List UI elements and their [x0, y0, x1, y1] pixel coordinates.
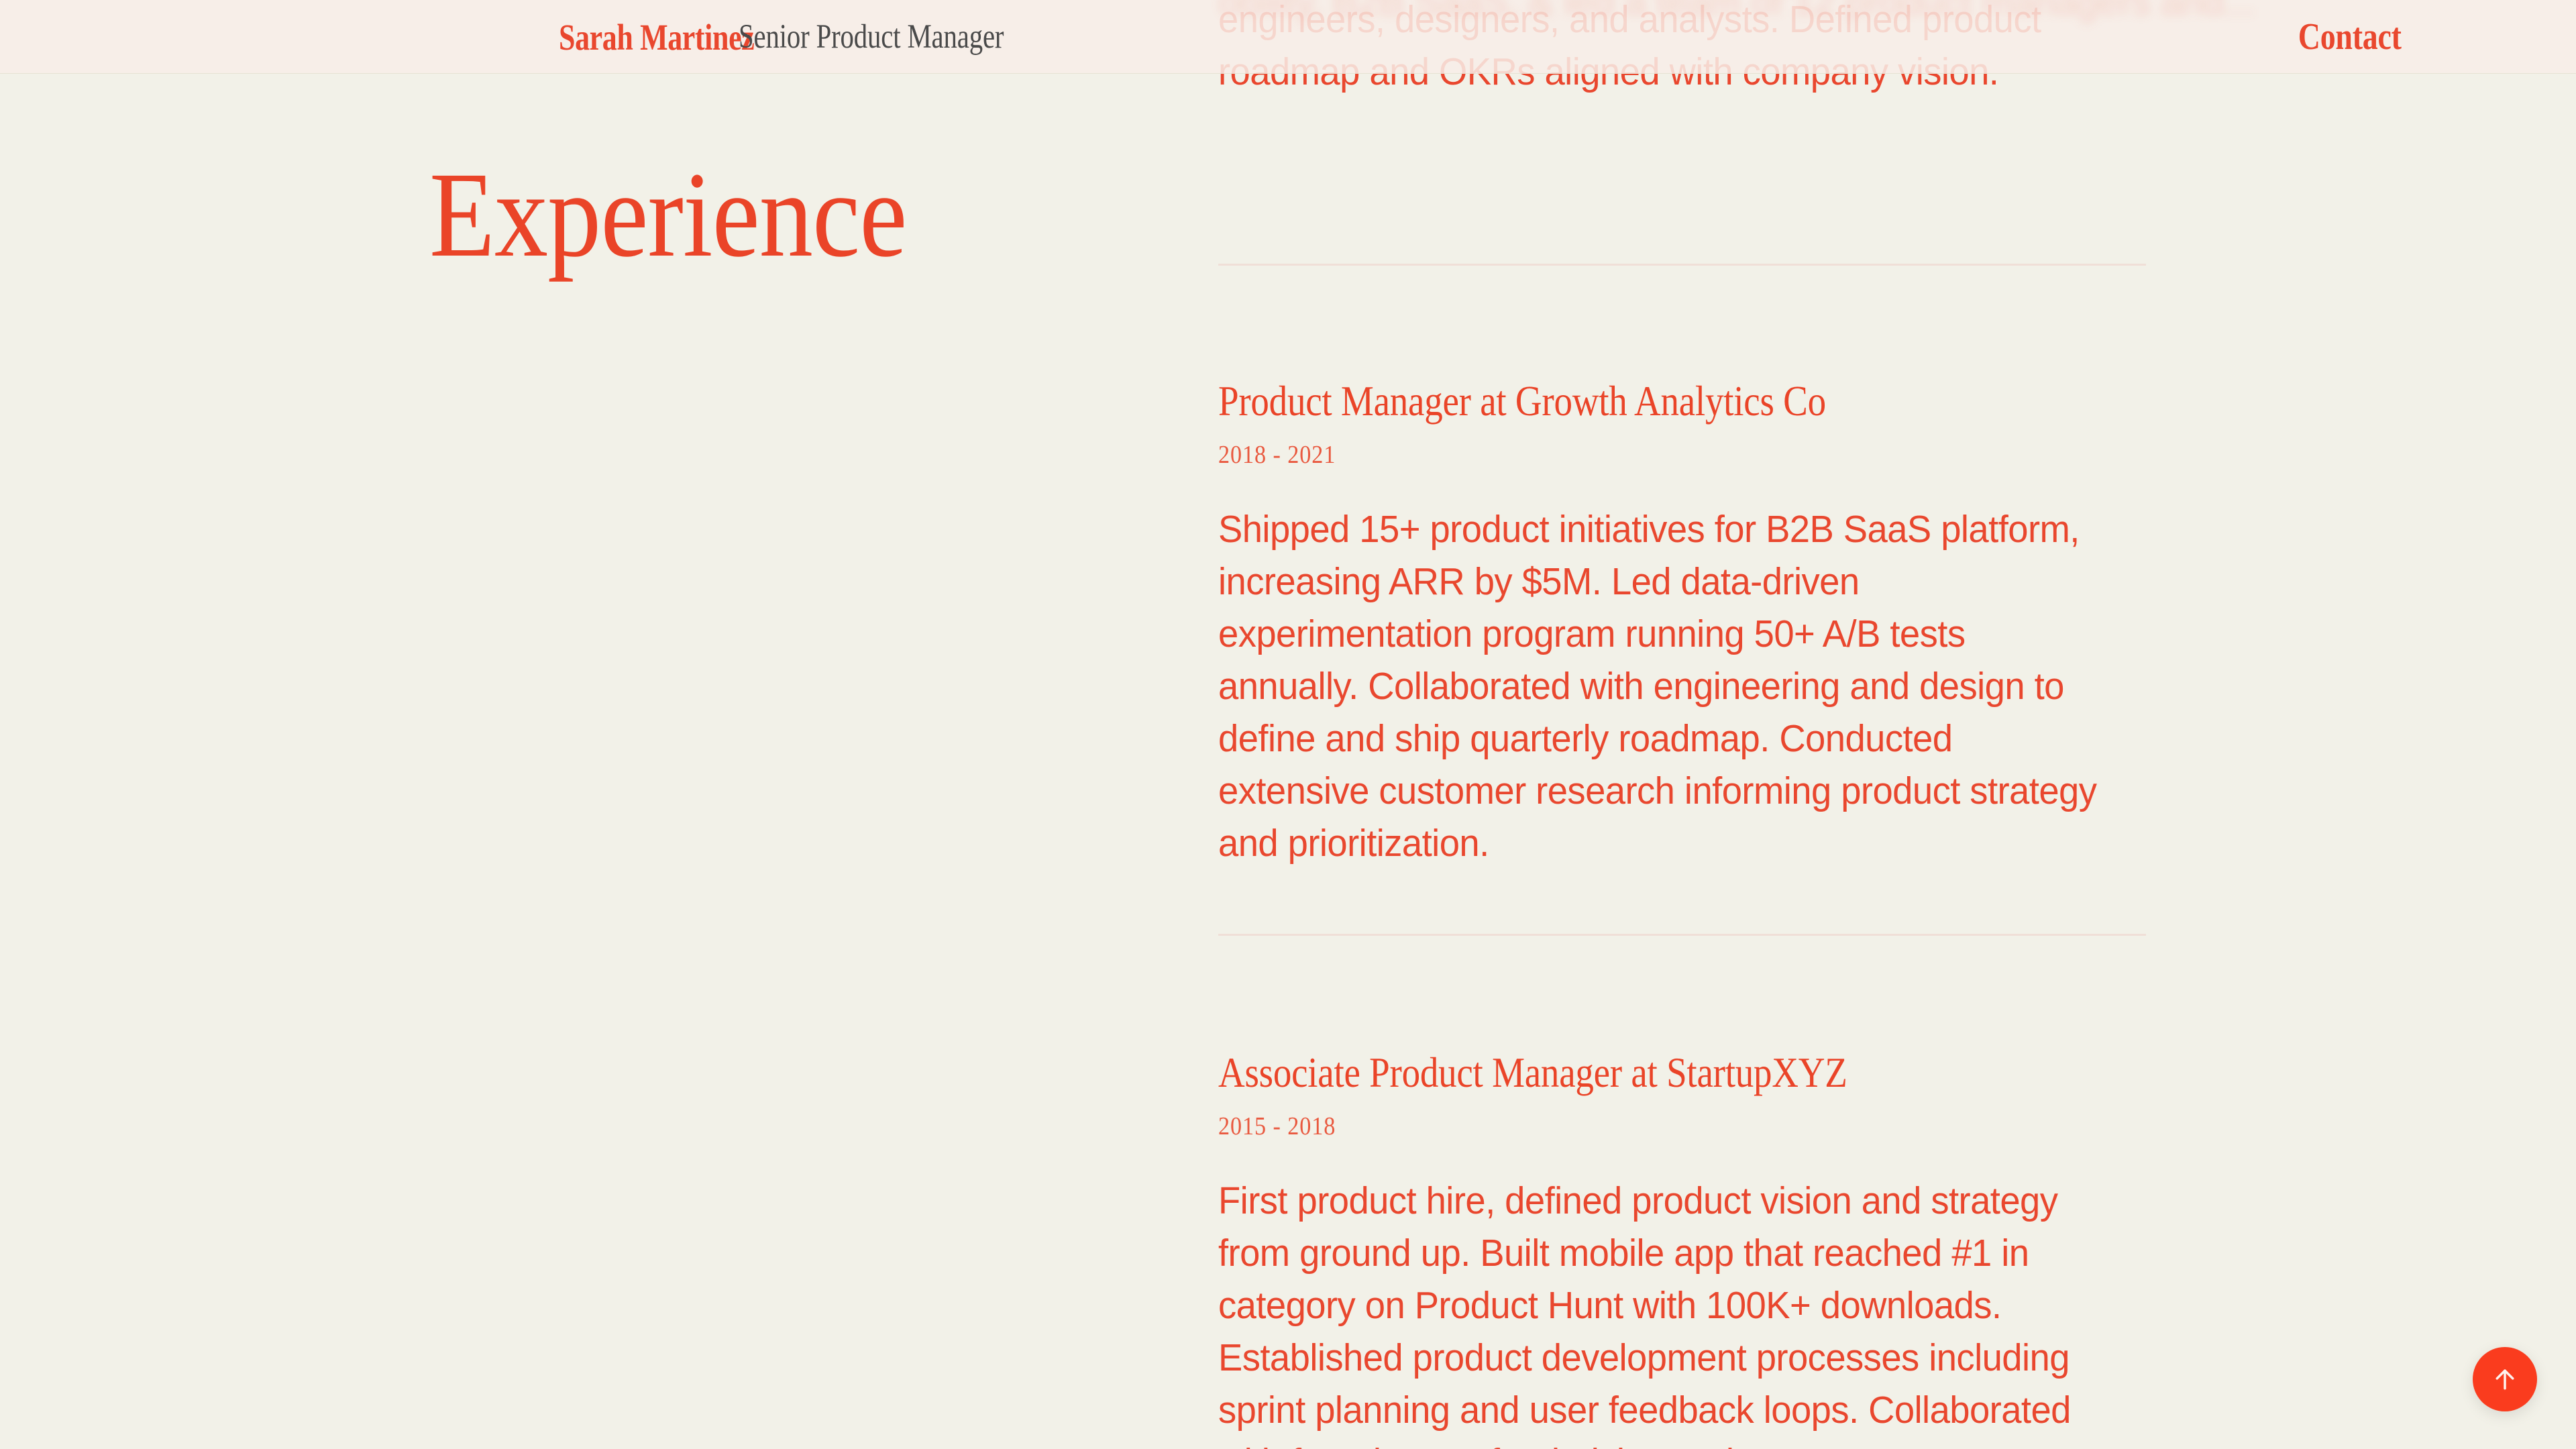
brand[interactable]: Sarah Martinez Senior Product Manager: [559, 0, 1070, 74]
section-heading-column: Experience: [429, 154, 1167, 276]
entry-divider: [1218, 934, 2146, 936]
experience-entry: Product Manager at Growth Analytics Co 2…: [1218, 377, 2151, 869]
brand-role: Senior Product Manager: [739, 17, 1004, 56]
experience-title: Associate Product Manager at StartupXYZ: [1218, 1049, 2020, 1097]
page-root: engineers, designers, and analysts. Defi…: [0, 0, 2576, 1449]
header-inner: Sarah Martinez Senior Product Manager Co…: [0, 0, 2576, 74]
main-nav: Contact: [2275, 0, 2402, 74]
scroll-to-top-button[interactable]: [2473, 1347, 2537, 1411]
entry-divider: [1218, 264, 2146, 266]
site-header: obility, B2B SaaS, & led a team of 12 pr…: [0, 0, 2576, 74]
nav-link-contact[interactable]: Contact: [2298, 15, 2402, 58]
experience-dates: 2015 - 2018: [1218, 1112, 2057, 1141]
brand-name[interactable]: Sarah Martinez: [559, 16, 754, 58]
arrow-up-icon: [2490, 1364, 2520, 1394]
experience-dates: 2018 - 2021: [1218, 440, 2057, 470]
experience-entry: Associate Product Manager at StartupXYZ …: [1218, 1049, 2151, 1449]
experience-description: Shipped 15+ product initiatives for B2B …: [1218, 503, 2108, 869]
experience-title: Product Manager at Growth Analytics Co: [1218, 377, 2020, 425]
experience-description: First product hire, defined product visi…: [1218, 1175, 2108, 1449]
page-title: Experience: [429, 154, 1079, 276]
